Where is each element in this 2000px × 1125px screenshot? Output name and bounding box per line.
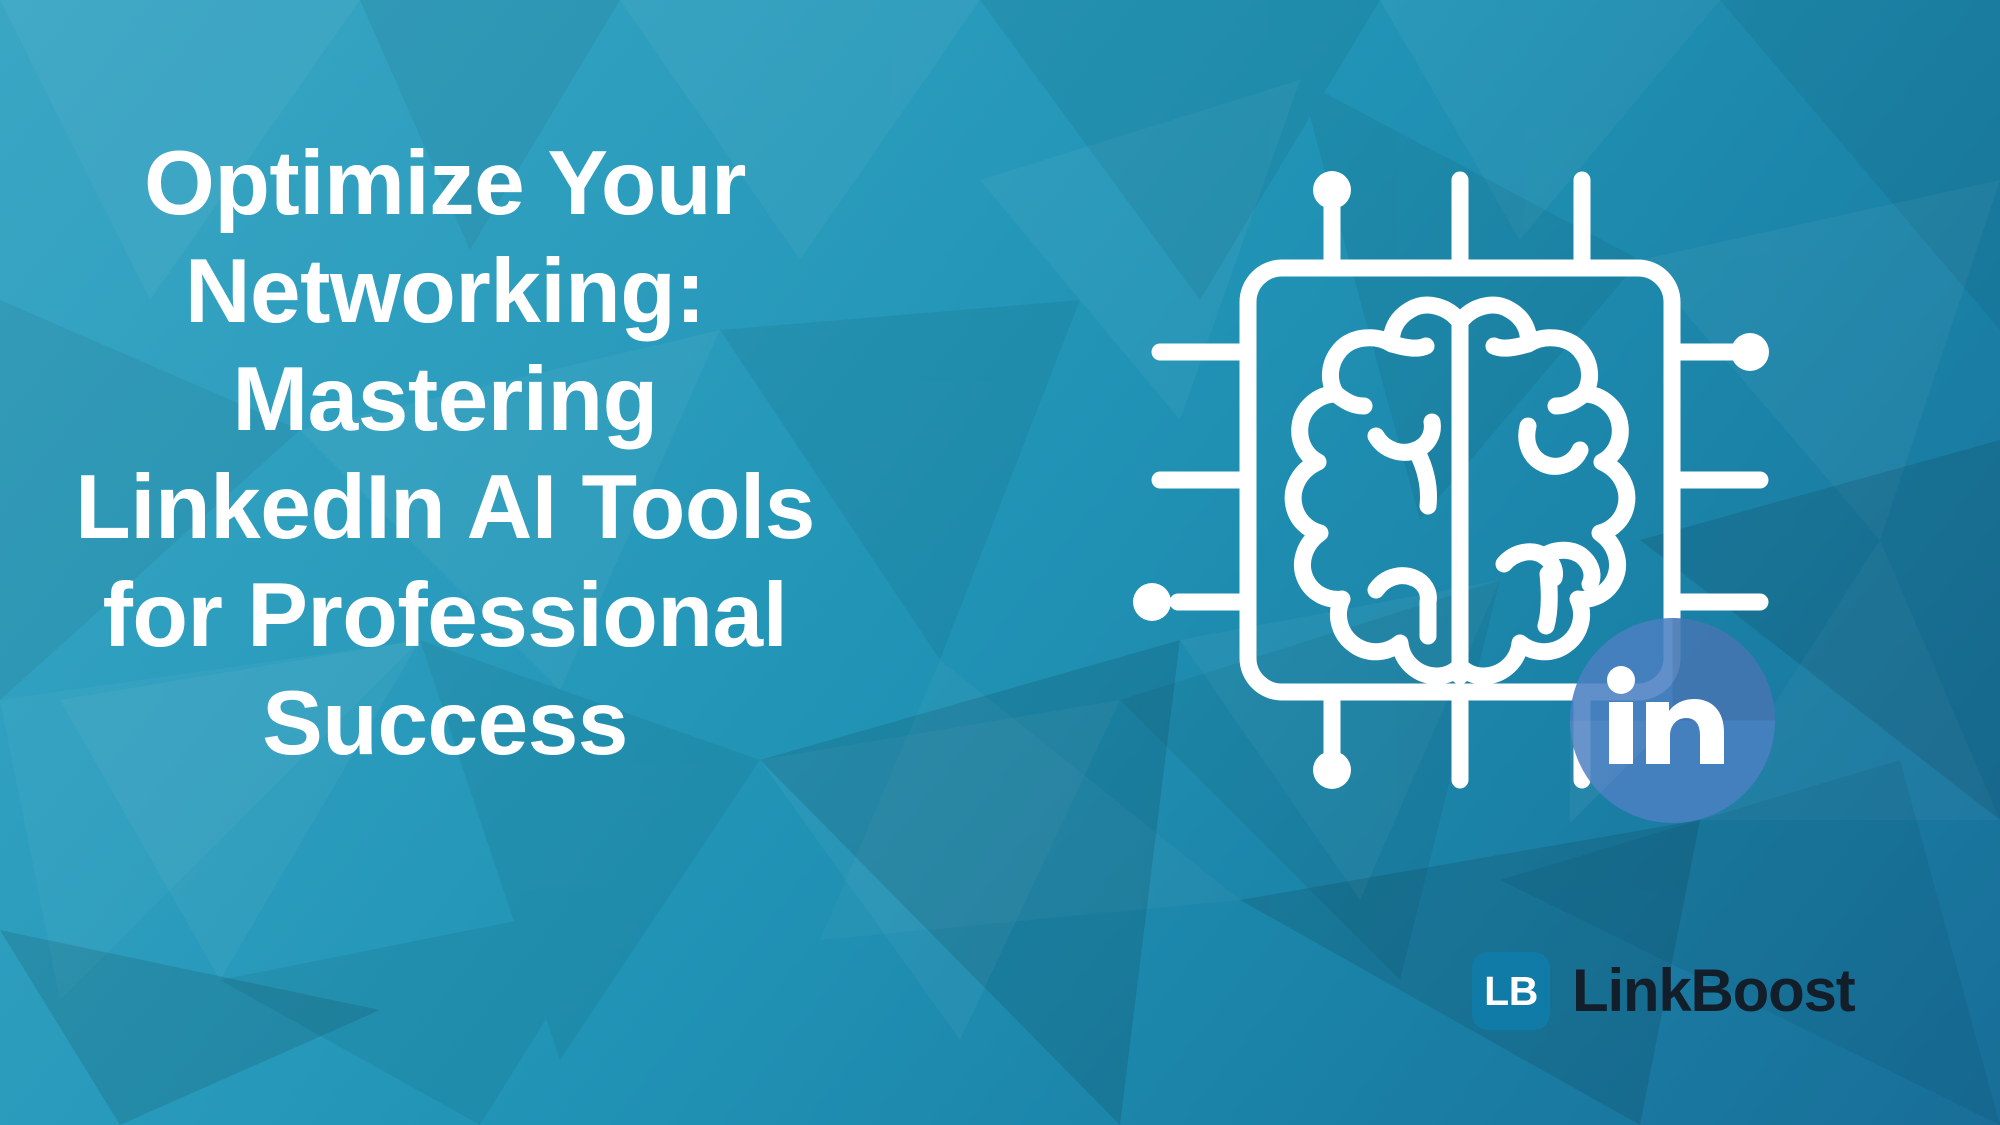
page-title: Optimize Your Networking: Mastering Link… xyxy=(60,130,830,778)
linkedin-i-stem xyxy=(1609,702,1633,764)
brand-logo[interactable]: LB LinkBoost xyxy=(1472,952,1855,1030)
promotional-banner: Optimize Your Networking: Mastering Link… xyxy=(0,0,2000,1125)
headline-line: for Professional xyxy=(60,562,830,670)
headline-line: Mastering xyxy=(60,346,830,454)
brand-badge-label: LB xyxy=(1484,971,1538,1012)
headline-line: LinkedIn AI Tools xyxy=(60,454,830,562)
linkedin-icon xyxy=(1570,618,1775,823)
chip-pin-dot-bottom-left xyxy=(1313,751,1351,789)
chip-pin-dot-right-upper xyxy=(1731,333,1769,371)
headline-line: Success xyxy=(60,670,830,778)
linkedin-i-dot xyxy=(1607,666,1635,694)
headline-line: Optimize Your xyxy=(60,130,830,238)
chip-pin-dot-top-left xyxy=(1313,171,1351,209)
brand-badge-icon: LB xyxy=(1472,952,1550,1030)
headline-line: Networking: xyxy=(60,238,830,346)
chip-pin-dot-left-lower xyxy=(1133,583,1171,621)
brand-wordmark: LinkBoost xyxy=(1572,961,1855,1021)
